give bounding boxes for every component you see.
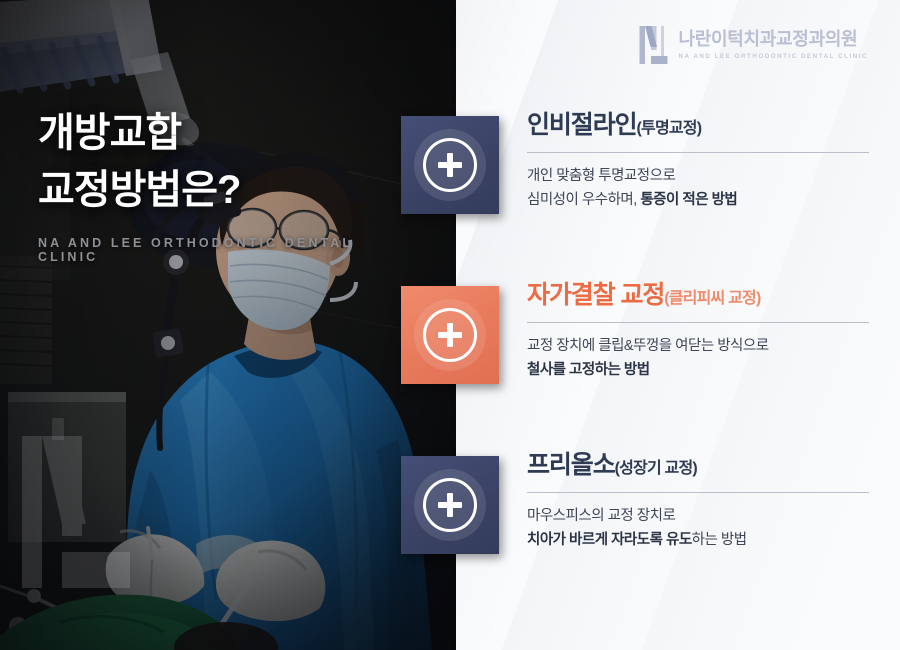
clinic-photo	[0, 0, 456, 650]
treatment-title-main: 자가결찰 교정	[527, 281, 664, 309]
divider	[527, 322, 869, 323]
treatment-title: 자가결찰 교정(클리피씨 교정)	[527, 283, 869, 308]
description-bold: 치아가 바르게 자라도록 유도	[527, 532, 692, 548]
description-bold: 통증이 적은 방법	[640, 192, 737, 208]
treatment-description: 교정 장치에 클립&뚜껑을 여닫는 방식으로 철사를 고정하는 방법	[527, 335, 869, 382]
nl-monogram-icon	[639, 24, 669, 66]
headline-line-1: 개방교합	[38, 105, 418, 162]
logo-name-ko: 나란이턱치과교정과의원	[678, 30, 868, 50]
description-line-1: 개인 맞춤형 투명교정으로	[527, 165, 869, 189]
description-line-1: 교정 장치에 클립&뚜껑을 여닫는 방식으로	[527, 335, 869, 359]
description-line-2: 철사를 고정하는 방법	[527, 359, 869, 383]
description-line-2: 심미성이 우수하며, 통증이 적은 방법	[527, 189, 869, 213]
treatment-title: 인비절라인(투명교정)	[527, 113, 869, 138]
nl-monogram-watermark-icon	[18, 432, 138, 592]
treatment-title: 프리올소(성장기 교정)	[527, 453, 869, 478]
divider	[527, 492, 869, 493]
description-plain: 하는 방법	[692, 532, 747, 548]
description-bold: 철사를 고정하는 방법	[527, 362, 650, 378]
plus-circle-icon	[423, 478, 477, 532]
plus-circle-icon	[423, 308, 477, 362]
treatment-description: 마우스피스의 교정 장치로 치아가 바르게 자라도록 유도하는 방법	[527, 505, 869, 552]
treatment-block-invisalign: 인비절라인(투명교정) 개인 맞춤형 투명교정으로 심미성이 우수하며, 통증이…	[527, 113, 869, 212]
logo-name-en: NA AND LEE ORTHODONTIC DENTAL CLINIC	[678, 53, 868, 60]
headline-line-2: 교정방법은?	[38, 162, 418, 219]
treatment-description: 개인 맞춤형 투명교정으로 심미성이 우수하며, 통증이 적은 방법	[527, 165, 869, 212]
logo-text: 나란이턱치과교정과의원 NA AND LEE ORTHODONTIC DENTA…	[678, 30, 868, 60]
treatment-title-paren: (투명교정)	[637, 120, 702, 137]
divider	[527, 152, 869, 153]
clinic-logo[interactable]: 나란이턱치과교정과의원 NA AND LEE ORTHODONTIC DENTA…	[639, 24, 868, 66]
hero-subtitle: NA AND LEE ORTHODONTIC DENTAL CLINIC	[38, 236, 418, 264]
treatment-title-paren: (성장기 교정)	[615, 460, 697, 477]
description-plain: 심미성이 우수하며,	[527, 192, 640, 208]
treatment-block-preortho: 프리올소(성장기 교정) 마우스피스의 교정 장치로 치아가 바르게 자라도록 …	[527, 453, 869, 552]
promo-banner: 개방교합 교정방법은? NA AND LEE ORTHODONTIC DENTA…	[0, 0, 900, 650]
description-line-1: 마우스피스의 교정 장치로	[527, 505, 869, 529]
expand-button-preortho[interactable]	[401, 456, 499, 554]
treatment-block-self-ligating: 자가결찰 교정(클리피씨 교정) 교정 장치에 클립&뚜껑을 여닫는 방식으로 …	[527, 283, 869, 382]
plus-circle-icon	[423, 138, 477, 192]
treatment-title-main: 프리올소	[527, 451, 615, 479]
description-line-2: 치아가 바르게 자라도록 유도하는 방법	[527, 529, 869, 553]
expand-button-invisalign[interactable]	[401, 116, 499, 214]
treatment-title-paren: (클리피씨 교정)	[664, 290, 760, 307]
hero-headline: 개방교합 교정방법은? NA AND LEE ORTHODONTIC DENTA…	[38, 105, 418, 264]
expand-button-self-ligating[interactable]	[401, 286, 499, 384]
treatment-title-main: 인비절라인	[527, 111, 637, 139]
